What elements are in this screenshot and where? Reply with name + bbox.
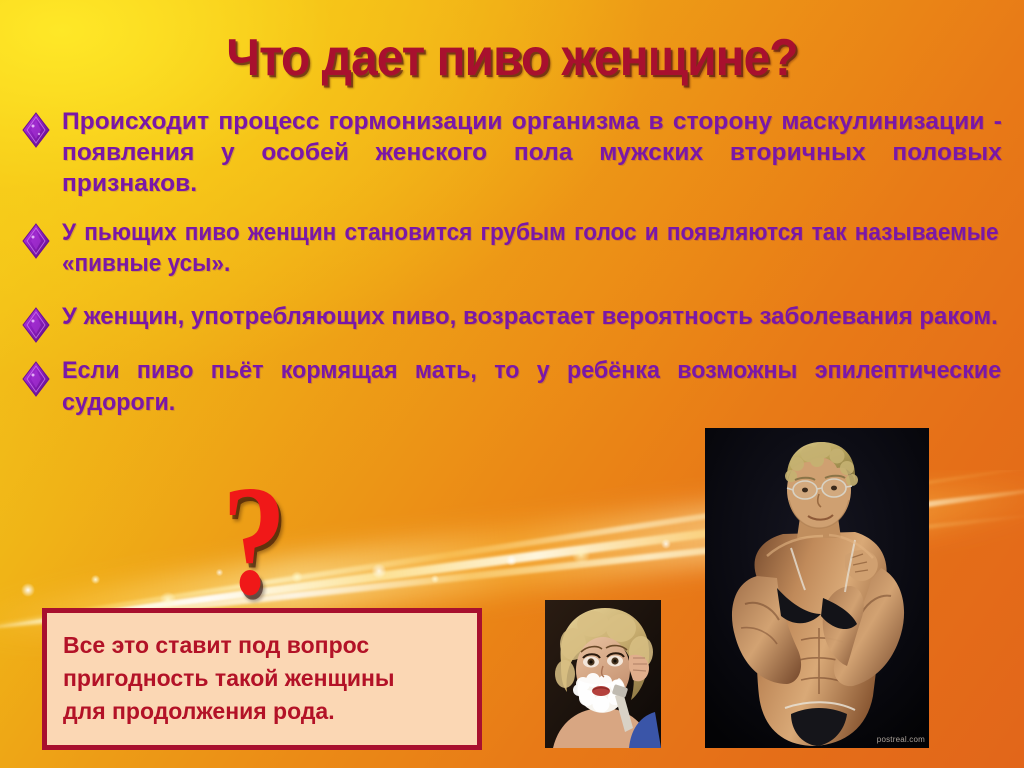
photo-bodybuilder: postreal.com	[705, 428, 929, 748]
bullet-text-2: У пьющих пиво женщин становится грубым г…	[62, 217, 999, 279]
bullet-text-1: Происходит процесс гормонизации организм…	[62, 106, 1002, 199]
conclusion-textbox: Все это ставит под вопрос пригодность та…	[42, 608, 482, 750]
conclusion-line-1: Все это ставит под вопрос	[63, 629, 463, 662]
bullet-text-4: Если пиво пьёт кормящая мать, то у ребён…	[62, 355, 1001, 419]
bullet-list: Происходит процесс гормонизации организм…	[0, 106, 1024, 433]
bullet-text-3: У женщин, употребляющих пиво, возрастает…	[62, 301, 1002, 333]
bullet-item-2: У пьющих пиво женщин становится грубым г…	[0, 217, 1024, 279]
purple-gem-diamond-icon	[22, 307, 50, 343]
question-mark-graphic: ?	[222, 462, 287, 620]
slide-title: Что дает пиво женщине?	[41, 28, 983, 88]
photo-woman-shaving	[545, 600, 661, 748]
purple-gem-diamond-icon	[22, 112, 50, 148]
bullet-item-1: Происходит процесс гормонизации организм…	[0, 106, 1024, 199]
conclusion-text: Все это ставит под вопрос пригодность та…	[63, 629, 463, 728]
bullet-item-4: Если пиво пьёт кормящая мать, то у ребён…	[0, 355, 1024, 419]
purple-gem-diamond-icon	[22, 361, 50, 397]
conclusion-line-3: для продолжения рода.	[63, 695, 463, 728]
presentation-slide: Что дает пиво женщине?	[0, 0, 1024, 768]
photo-watermark: postreal.com	[877, 735, 925, 744]
bullet-item-3: У женщин, употребляющих пиво, возрастает…	[0, 301, 1024, 333]
conclusion-line-2: пригодность такой женщины	[63, 662, 463, 695]
purple-gem-diamond-icon	[22, 223, 50, 259]
